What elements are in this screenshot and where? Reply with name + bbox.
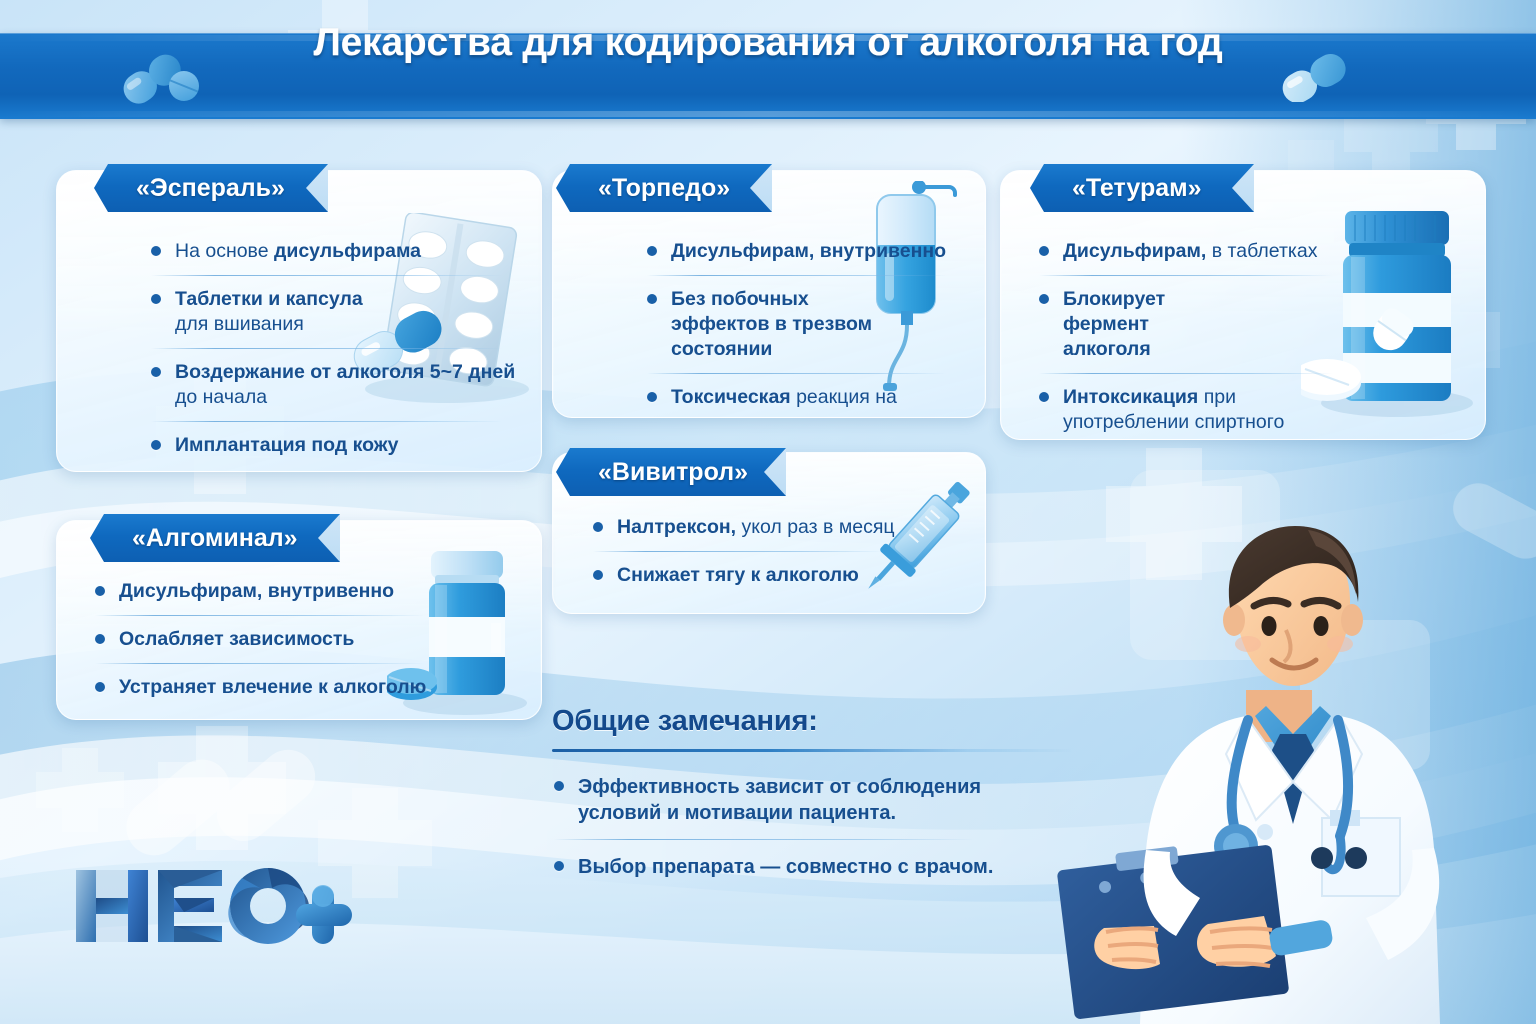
list-item: Дисульфирам, в таблетках (1037, 239, 1357, 264)
list-item: Имплантация под кожу (149, 433, 539, 458)
list-item: Блокирует фермент алкоголя (1037, 287, 1237, 362)
divider (1039, 275, 1333, 276)
divider (151, 421, 503, 422)
bullet-dot (554, 781, 564, 791)
bullet-dot (151, 440, 161, 450)
divider (647, 275, 947, 276)
bullet-dot (95, 634, 105, 644)
list-item: Налтрексон, укол раз в месяц (591, 515, 921, 540)
list-item: Воздержание от алкоголя 5~7 дней до нача… (149, 360, 527, 410)
bullets-algominal: Дисульфирам, внутривенно Ослабляет завис… (93, 579, 493, 700)
divider (647, 373, 947, 374)
divider (151, 348, 503, 349)
bullet-dot (647, 294, 657, 304)
bullet-dot (593, 570, 603, 580)
divider (554, 839, 974, 840)
bullets-esperal: На основе дисульфирама Таблетки и капсул… (149, 239, 539, 458)
neo-plus-logo (72, 866, 354, 946)
card-title-label: «Вивитрол» (598, 458, 748, 487)
card-title-label: «Эспераль» (136, 174, 285, 203)
list-item: Эффективность зависит от соблюдения усло… (552, 774, 992, 826)
divider (552, 749, 1072, 752)
list-item: На основе дисульфирама (149, 239, 539, 264)
bullet-dot (647, 392, 657, 402)
bullet-dot (95, 682, 105, 692)
notes-title: Общие замечания: (552, 705, 1072, 738)
list-item: Выбор препарата — совместно с врачом. (552, 854, 1072, 880)
bullets-teturam-inner: Дисульфирам, в таблетках Блокирует ферме… (1037, 239, 1357, 435)
divider (151, 275, 503, 276)
bullet-dot (554, 861, 564, 871)
list-item: Снижает тягу к алкоголю (591, 563, 921, 588)
bullet-dot (151, 367, 161, 377)
card-esperal: На основе дисульфирама Таблетки и капсул… (56, 170, 542, 472)
card-title-esperal: «Эспераль» (94, 164, 328, 212)
divider (95, 663, 425, 664)
list-item: Интоксикация при употреблении спиртного (1037, 385, 1357, 435)
list-item: Ослабляет зависимость (93, 627, 493, 652)
list-item: Без побочных эффектов в трезвом состояни… (645, 287, 875, 362)
bullet-dot (1039, 246, 1049, 256)
bullet-dot (593, 522, 603, 532)
bullet-dot (1039, 392, 1049, 402)
bullet-dot (647, 246, 657, 256)
bullet-dot (95, 586, 105, 596)
divider (593, 551, 883, 552)
divider (95, 615, 425, 616)
card-title-torpedo: «Торпедо» (556, 164, 772, 212)
card-title-label: «Торпедо» (598, 174, 730, 203)
bullet-dot (1039, 294, 1049, 304)
bullet-dot (151, 294, 161, 304)
bullets-torpedo: Дисульфирам, внутривенно Без побочных эф… (645, 239, 981, 418)
card-title-teturam: «Тетурам» (1030, 164, 1254, 212)
general-notes-section: Общие замечания: Эффективность зависит о… (552, 705, 1072, 880)
list-item: Таблетки и капсула для вшивания (149, 287, 399, 337)
doctor-with-clipboard-illustration (1050, 520, 1536, 1024)
card-title-algominal: «Алгоминал» (90, 514, 340, 562)
card-title-label: «Алгоминал» (132, 524, 298, 553)
bullet-dot (151, 246, 161, 256)
card-title-vivitrol: «Вивитрол» (556, 448, 786, 496)
bullets-vivitrol: Налтрексон, укол раз в месяц Снижает тяг… (591, 515, 921, 588)
list-item: Токсическая реакция на алкоголь (645, 385, 981, 418)
card-title-label: «Тетурам» (1072, 174, 1202, 203)
list-item: Дисульфирам, внутривенно (93, 579, 493, 604)
list-item: Дисульфирам, внутривенно (645, 239, 981, 264)
divider (1039, 373, 1333, 374)
list-item: Устраняет влечение к алкоголю (93, 675, 493, 700)
page-title: Лекарства для кодирования от алкоголя на… (0, 0, 1536, 86)
infographic-canvas: Лекарства для кодирования от алкоголя на… (0, 0, 1536, 1024)
